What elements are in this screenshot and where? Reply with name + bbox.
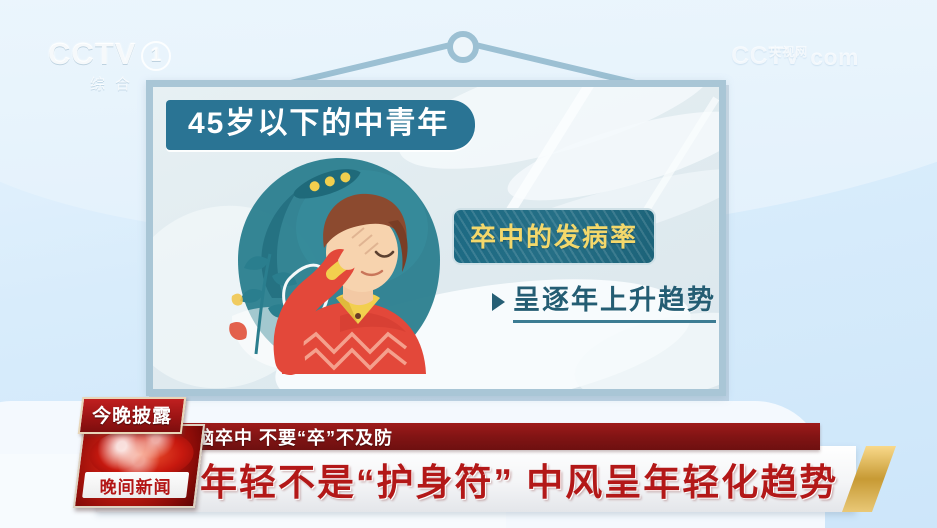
program-logo-label-plate: 晚间新闻 (82, 472, 189, 498)
program-logo-label: 晚间新闻 (100, 473, 172, 498)
tonight-reveal-tag: 今晚披露 (78, 397, 187, 434)
graphic-trend-text: 呈逐年上升趋势 (513, 278, 716, 323)
news-headline: 年轻不是“护身符” 中风呈年轻化趋势 (200, 452, 838, 506)
subtitle-plate: 警惕脑卒中 不要“卒”不及防 (130, 423, 820, 450)
broadcast-screen: CCTV1 综合 CCTV 央视网 com (0, 0, 937, 528)
graphic-trend-line: 呈逐年上升趋势 (492, 278, 716, 323)
program-logo: 晚间新闻 (73, 424, 205, 508)
tonight-reveal-label: 今晚披露 (92, 401, 172, 428)
lower-third-news-bar: 警惕脑卒中 不要“卒”不及防 年轻不是“护身符” 中风呈年轻化趋势 晚间新闻 今… (0, 396, 937, 528)
triangle-bullet-icon (492, 293, 505, 311)
person-headache-illustration (212, 148, 467, 396)
graphic-highlight-box: 卒中的发病率 (452, 208, 656, 265)
graphic-title-banner: 45岁以下的中青年 (166, 100, 475, 150)
